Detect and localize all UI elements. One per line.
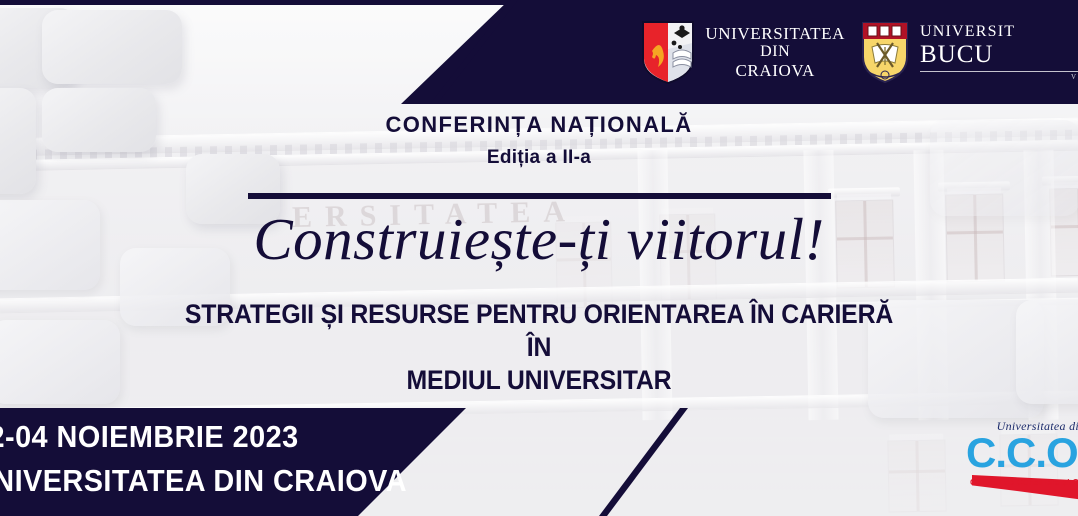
- logo-craiova-line1: UNIVERSITATEA: [705, 24, 845, 43]
- ccoc-logo[interactable]: Universitatea din C.C.O.C Centrul de Con…: [966, 419, 1078, 487]
- decor-card: [42, 10, 182, 84]
- bucuresti-shield-icon: [859, 19, 911, 85]
- conference-label: CONFERINȚA NAȚIONALĂ: [0, 112, 1078, 138]
- logo-bucuresti-text: UNIVERSIT BUCU V: [920, 23, 1078, 82]
- logo-craiova-line2: DIN: [705, 43, 845, 61]
- title-divider: [248, 193, 831, 199]
- logo-craiova-text: UNIVERSITATEA DIN CRAIOVA: [705, 24, 845, 80]
- event-dates: 02-04 NOIEMBRIE 2023: [0, 419, 407, 455]
- main-content: CONFERINȚA NAȚIONALĂ Ediția a II-a Const…: [0, 112, 1078, 397]
- event-venue: UNIVERSITATEA DIN CRAIOVA: [0, 463, 407, 499]
- header-logo-row: UNIVERSITATEA DIN CRAIOVA UNIVERSIT: [640, 0, 1078, 104]
- ccoc-acronym: C.C.O.C: [966, 432, 1078, 474]
- conference-banner: ERSITATEA: [0, 0, 1078, 516]
- logo-bucuresti-subtext: V: [920, 74, 1078, 82]
- logo-craiova-line3: CRAIOVA: [705, 61, 845, 80]
- edition-label: Ediția a II-a: [0, 147, 1078, 169]
- script-title: Construiește-ți viitorul!: [0, 205, 1078, 274]
- logo-bucuresti-line1: UNIVERSIT: [920, 23, 1078, 41]
- subtitle-line-3: MEDIUL UNIVERSITAR: [43, 364, 1035, 397]
- ccoc-subtitle: Centrul de Consiliere și Orientare: [966, 477, 1078, 487]
- logo-bucuresti-line2: BUCU: [920, 41, 1078, 69]
- logo-universitatea-din-craiova[interactable]: UNIVERSITATEA DIN CRAIOVA: [640, 19, 859, 85]
- subtitle-line-2: ÎN: [43, 331, 1035, 364]
- subtitle-block: STRATEGII ȘI RESURSE PENTRU ORIENTAREA Î…: [43, 298, 1035, 397]
- footer-text-block: 02-04 NOIEMBRIE 2023 UNIVERSITATEA DIN C…: [0, 419, 407, 499]
- craiova-shield-icon: [640, 19, 696, 85]
- logo-universitatea-din-bucuresti[interactable]: UNIVERSIT BUCU V: [859, 19, 1078, 85]
- logo-bucuresti-rule: [920, 71, 1078, 72]
- subtitle-line-1: STRATEGII ȘI RESURSE PENTRU ORIENTAREA Î…: [43, 298, 1035, 331]
